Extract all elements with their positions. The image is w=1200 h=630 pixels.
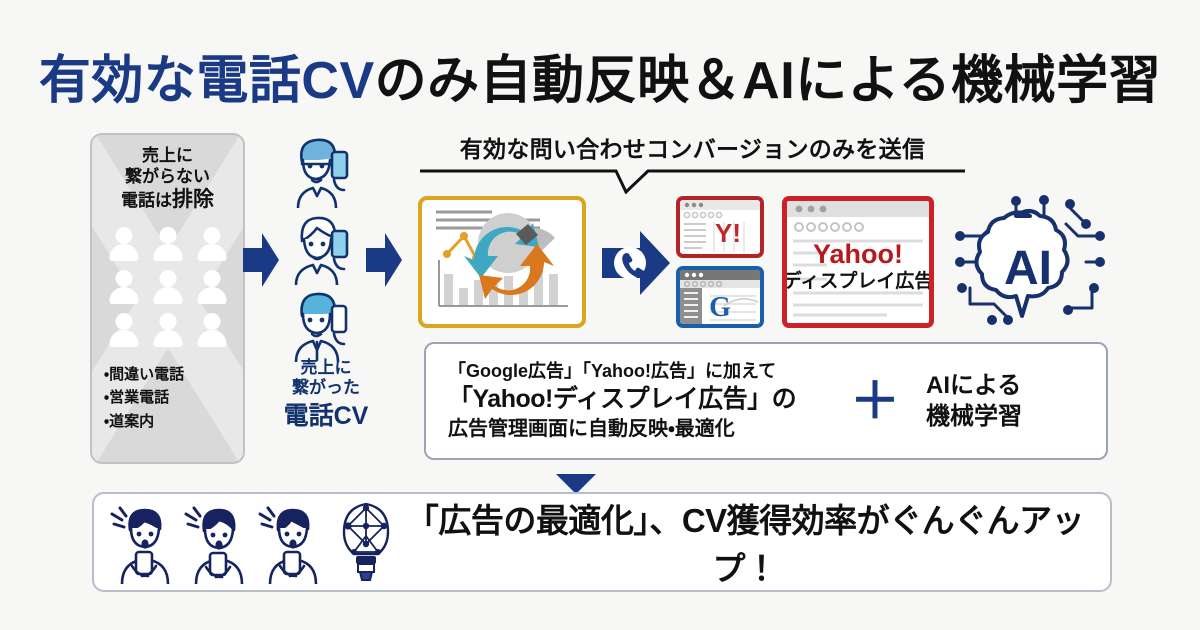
page-title-navy: 有効な電話CV	[39, 52, 375, 110]
excluded-call-types-list: ・間違い電話 ・営業電話 ・道案内	[92, 363, 243, 433]
ad-window-yahoo-search: Y!	[676, 196, 764, 258]
analytics-sync-dashboard-icon	[422, 200, 582, 324]
ad-window-google: G	[676, 266, 764, 328]
result-banner-text: 「広告の最適化」、CV獲得効率がぐんぐんアップ！	[398, 494, 1110, 590]
send-banner-text: 有効な問い合わせコンバージョンのみを送信	[420, 130, 965, 164]
feature-line-1: 「Google広告」「Yahoo!広告」に加えて	[448, 360, 846, 383]
infographic-root: 有効な電話CVのみ自動反映＆AIによる機械学習 売上に 繋がらない 電話は排除 …	[0, 0, 1200, 630]
connected-callers-label: 売上に 繋がった 電話CV	[250, 358, 402, 431]
excluded-heading-emphasis: 排除	[172, 188, 214, 211]
excluded-heading-line2: 繋がらない	[92, 167, 243, 188]
happy-person-2-icon	[182, 504, 254, 584]
feature-line-3: 広告管理画面に自動反映・最適化	[448, 416, 846, 442]
person-icon	[153, 313, 183, 347]
happy-person-3-icon	[256, 504, 328, 584]
ad-sublabel-yahoo-display: ディスプレイ広告	[787, 269, 929, 292]
person-icon	[153, 227, 183, 261]
person-icon	[197, 313, 227, 347]
person-icon	[197, 227, 227, 261]
caller-person-3-icon	[272, 290, 368, 362]
happy-people-group	[94, 500, 398, 584]
person-icon	[109, 270, 139, 304]
yahoo-search-window-icon: Y!	[680, 200, 760, 254]
feature-text-block: 「Google広告」「Yahoo!広告」に加えて 「Yahoo!ディスプレイ広告…	[426, 360, 846, 442]
caller-label-line1: 売上に	[250, 358, 402, 378]
ad-window-yahoo-display: Yahoo! ディスプレイ広告	[782, 196, 934, 328]
list-item: ・営業電話	[104, 386, 243, 409]
person-icon	[153, 270, 183, 304]
page-title-black: のみ自動反映＆AIによる機械学習	[375, 52, 1161, 110]
ai-brain-circuit-icon: AI	[952, 192, 1108, 332]
caller-label-big: 電話CV	[250, 401, 402, 431]
connected-callers-group	[272, 136, 380, 367]
ai-ml-line-1: AIによる	[926, 370, 1022, 401]
ai-machine-learning-label: AIによる 機械学習	[904, 370, 1022, 432]
list-item: ・間違い電話	[104, 363, 243, 386]
send-banner-rule	[420, 168, 965, 194]
caller-label-line2: 繋がった	[250, 378, 402, 398]
yahoo-display-window-icon: Yahoo! ディスプレイ広告	[787, 201, 929, 323]
flow-arrow-2-icon	[366, 233, 402, 287]
ad-label-yahoo-display: Yahoo!	[813, 239, 903, 269]
page-title: 有効な電話CVのみ自動反映＆AIによる機械学習	[0, 38, 1200, 113]
result-banner: 「広告の最適化」、CV獲得効率がぐんぐんアップ！	[92, 492, 1112, 592]
network-lightbulb-icon	[334, 500, 398, 584]
excluded-calls-panel: 売上に 繋がらない 電話は排除 ・間違い電話 ・営業電話 ・道案内	[90, 133, 245, 464]
feature-line-2: 「Yahoo!ディスプレイ広告」の	[448, 383, 846, 416]
plus-icon: ＋	[846, 376, 904, 426]
feature-description-box: 「Google広告」「Yahoo!広告」に加えて 「Yahoo!ディスプレイ広告…	[424, 342, 1108, 460]
ad-label-yahoo-search: Y!	[715, 218, 741, 248]
phone-arrow-icon	[600, 228, 672, 298]
excluded-heading-line3-prefix: 電話は	[121, 191, 172, 210]
analytics-dashboard-card	[418, 196, 586, 328]
ai-brain-label: AI	[1004, 242, 1052, 295]
ai-ml-line-2: 機械学習	[926, 401, 1022, 432]
person-icon	[109, 227, 139, 261]
caller-person-1-icon	[272, 136, 368, 208]
excluded-panel-heading: 売上に 繋がらない 電話は排除	[92, 135, 243, 213]
list-item: ・道案内	[104, 410, 243, 433]
person-icon	[197, 270, 227, 304]
google-window-icon: G	[680, 270, 760, 324]
caller-person-2-icon	[272, 213, 368, 285]
excluded-person-grid	[102, 227, 234, 347]
person-icon	[109, 313, 139, 347]
happy-person-1-icon	[108, 504, 180, 584]
excluded-heading-line1: 売上に	[92, 146, 243, 167]
ad-label-google: G	[709, 292, 731, 323]
